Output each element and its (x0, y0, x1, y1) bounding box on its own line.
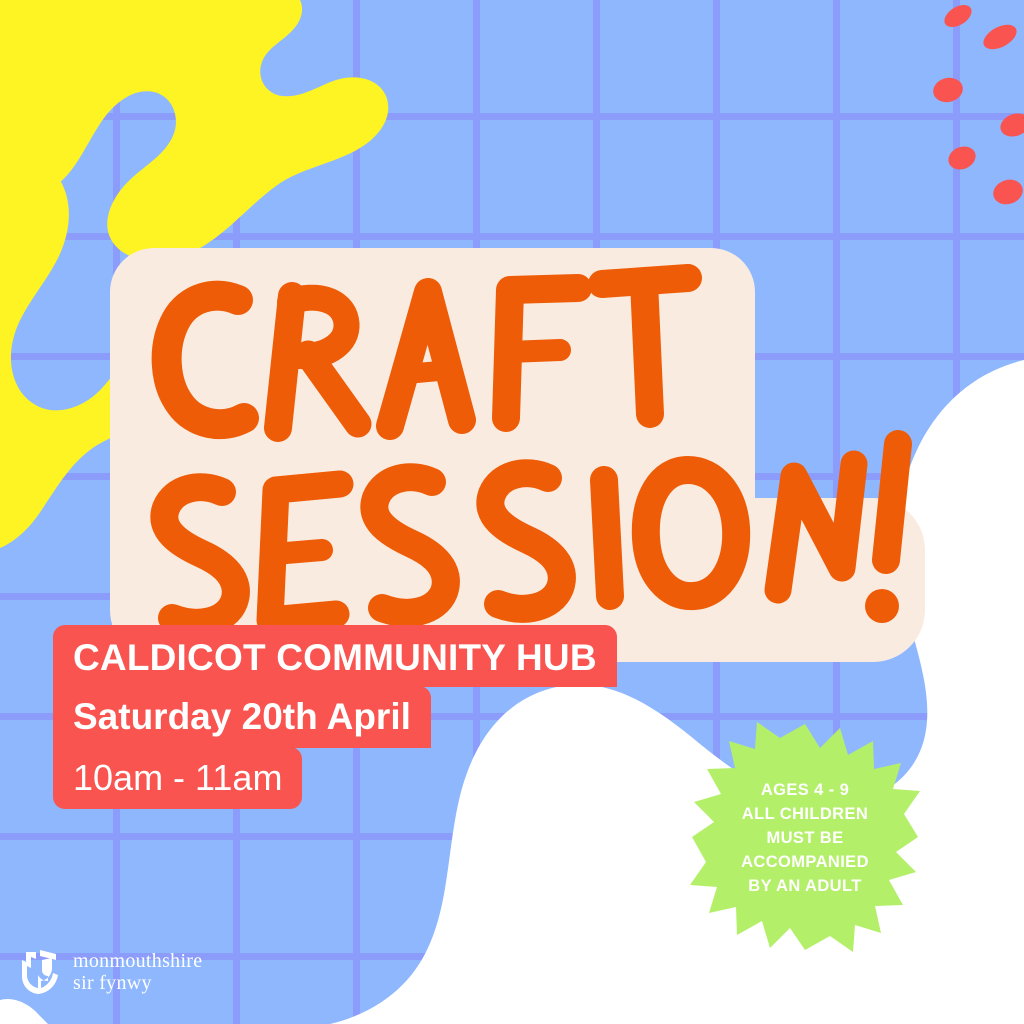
badge-text-group: AGES 4 - 9 ALL CHILDREN MUST BE ACCOMPAN… (690, 722, 920, 952)
venue-label: CALDICOT COMMUNITY HUB (53, 625, 617, 687)
badge-line-1: AGES 4 - 9 (761, 779, 849, 803)
logo-wordmark: monmouthshire sir fynwy (73, 950, 202, 995)
badge-line-2: ALL CHILDREN (742, 803, 868, 827)
red-petal-marks (931, 0, 1024, 208)
monmouthshire-castle-shield-icon (20, 948, 62, 996)
monmouthshire-logo: monmouthshire sir fynwy (20, 948, 202, 996)
poster-canvas: CRAFT SESSION! (0, 0, 1024, 1024)
time-label: 10am - 11am (53, 747, 302, 809)
white-blob-left-edge (0, 999, 48, 1024)
badge-line-3: MUST BE (766, 827, 843, 851)
date-label: Saturday 20th April (53, 686, 431, 748)
logo-name-welsh: sir fynwy (73, 972, 202, 994)
badge-line-5: BY AN ADULT (748, 875, 861, 899)
headline-panel (110, 248, 925, 662)
badge-line-4: ACCOMPANIED (741, 851, 869, 875)
age-requirement-badge: AGES 4 - 9 ALL CHILDREN MUST BE ACCOMPAN… (690, 722, 920, 952)
event-info-block: CALDICOT COMMUNITY HUB Saturday 20th Apr… (53, 625, 617, 809)
logo-name-english: monmouthshire (73, 950, 202, 972)
